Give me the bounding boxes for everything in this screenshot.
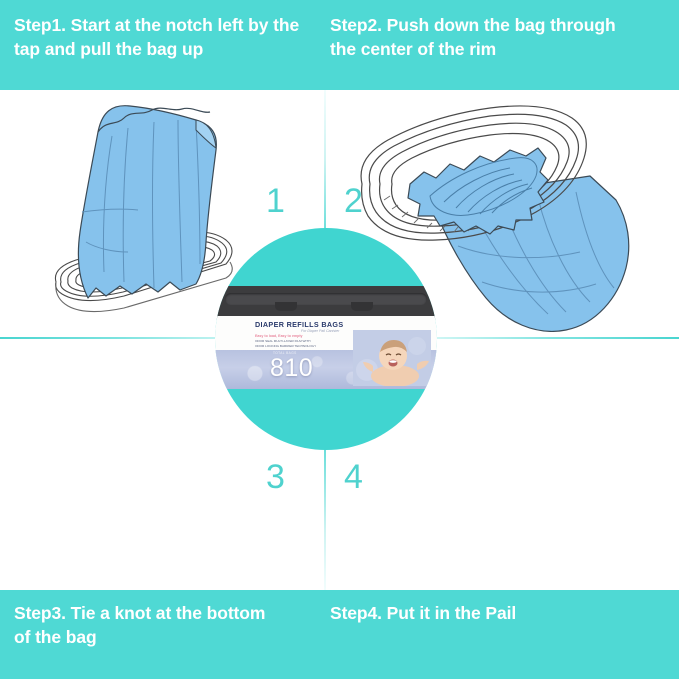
step4-caption: Step4. Put it in the Pail (330, 602, 660, 626)
product-box: DIAPER REFILLS BAGS For Diaper Pail Cani… (215, 286, 437, 394)
step3-caption: Step3. Tie a knot at the bottom of the b… (14, 602, 314, 649)
lid-tab-left (275, 302, 297, 311)
lid-tab-right (351, 302, 373, 311)
step1-caption: Step1. Start at the notch left by the ta… (14, 14, 314, 61)
quadrant-number-4: 4 (344, 460, 363, 494)
quadrant-number-2: 2 (344, 184, 363, 218)
quadrant-number-1: 1 (266, 184, 285, 218)
instruction-infographic: Step1. Start at the notch left by the ta… (0, 0, 679, 679)
product-lid (215, 286, 437, 320)
product-label-features: ODOR SEAL MULTI-LAYER FILM WITH ODOR LOC… (255, 339, 316, 349)
product-count: 810 (270, 356, 313, 381)
quadrant-number-3: 3 (266, 460, 285, 494)
step2-caption: Step2. Push down the bag through the cen… (330, 14, 660, 61)
product-circle: DIAPER REFILLS BAGS For Diaper Pail Cani… (215, 228, 437, 450)
product-label: DIAPER REFILLS BAGS For Diaper Pail Cani… (215, 316, 437, 389)
product-label-tagline: Easy to load, Easy to empty (255, 334, 303, 338)
product-label-subtitle: For Diaper Pail Canister (301, 329, 339, 333)
baby-photo (353, 330, 431, 386)
